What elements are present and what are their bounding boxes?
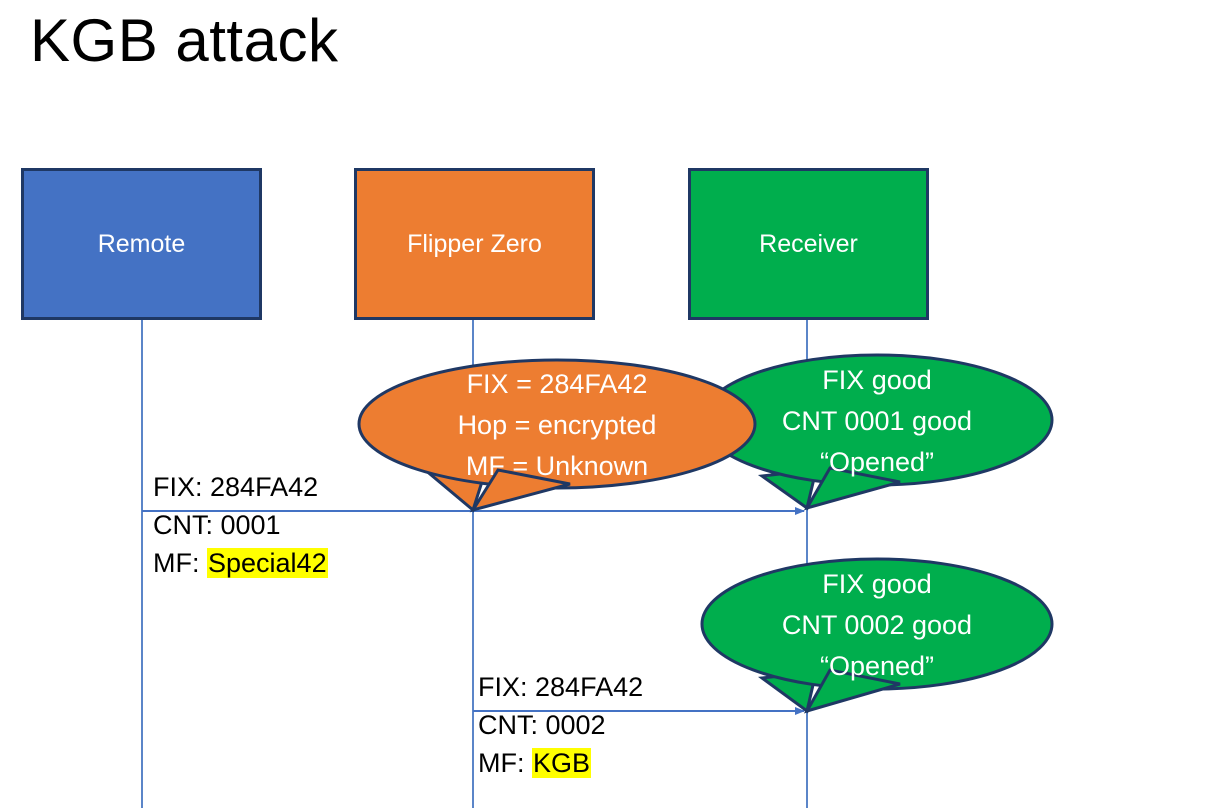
message-label-2-line-2: CNT: 0002 [478,706,643,744]
message-label-2-line-3-value: KGB [532,748,591,778]
message-label-2: FIX: 284FA42 CNT: 0002 MF: KGB [478,668,643,782]
message-label-2-line-1-value: 284FA42 [535,672,643,702]
message-label-2-line-1: FIX: 284FA42 [478,668,643,706]
message-label-1-line-1-key: FIX: [153,472,210,502]
message-label-1-line-1: FIX: 284FA42 [153,468,328,506]
message-label-2-line-3: MF: KGB [478,744,643,782]
message-label-2-line-2-key: CNT: [478,710,546,740]
receiver-callout-2-shape[interactable] [702,559,1052,711]
message-label-1-line-3-value: Special42 [207,548,328,578]
message-label-1-line-2: CNT: 0001 [153,506,328,544]
message-label-1-line-3-key: MF: [153,548,207,578]
message-label-1-line-1-value: 284FA42 [210,472,318,502]
message-label-1-line-2-value: 0001 [221,510,281,540]
slide-canvas: KGB attack Remote Flipper Zero Receiver [0,0,1218,808]
message-label-2-line-3-key: MF: [478,748,532,778]
message-label-1-line-2-key: CNT: [153,510,221,540]
message-label-2-line-1-key: FIX: [478,672,535,702]
message-label-1-line-3: MF: Special42 [153,544,328,582]
message-label-1: FIX: 284FA42 CNT: 0001 MF: Special42 [153,468,328,582]
message-label-2-line-2-value: 0002 [546,710,606,740]
flipper-callout-shape[interactable] [359,360,755,510]
